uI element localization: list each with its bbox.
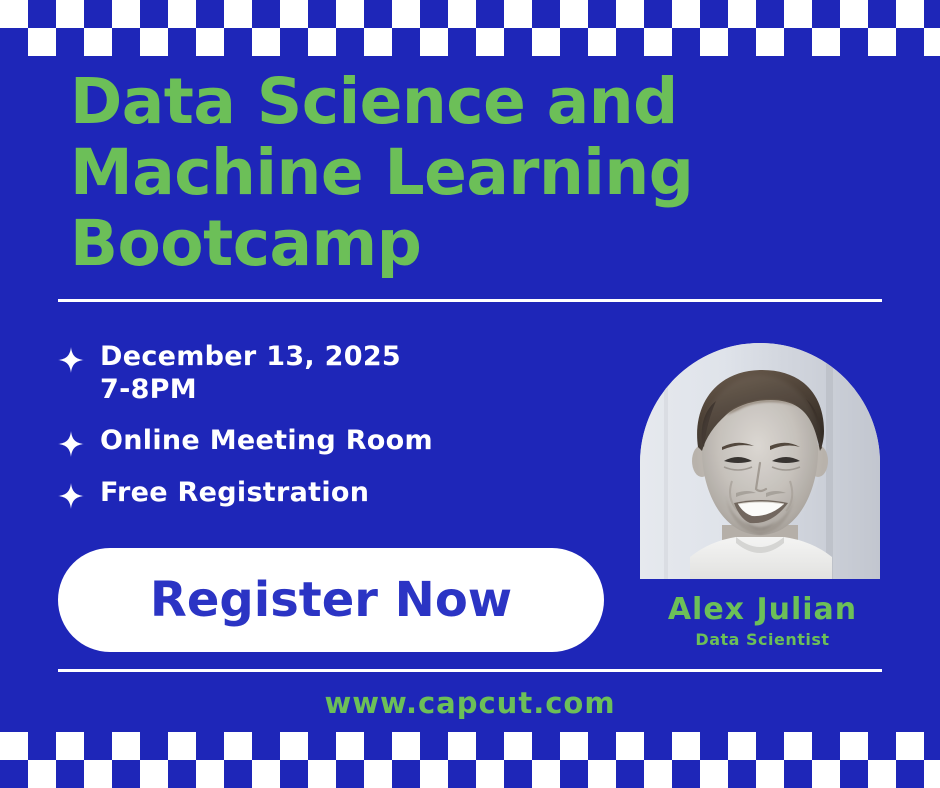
speaker-photo-frame [640, 343, 880, 579]
event-poster: Data Science and Machine Learning Bootca… [0, 0, 940, 788]
checker-square [616, 732, 644, 760]
checker-square [420, 760, 448, 788]
checker-square [168, 732, 196, 760]
sparkle-icon [58, 482, 84, 510]
checker-square [868, 28, 896, 56]
checker-square [504, 732, 532, 760]
detail-date-time: December 13, 2025 7-8PM [100, 340, 401, 406]
checker-square [224, 0, 252, 28]
checker-square [700, 760, 728, 788]
checker-square [28, 760, 56, 788]
checker-square [224, 732, 252, 760]
checker-square [812, 28, 840, 56]
detail-price: Free Registration [100, 476, 369, 509]
checker-square [392, 0, 420, 28]
checker-square [924, 760, 940, 788]
register-now-button[interactable]: Register Now [58, 548, 604, 652]
checkerboard-row [0, 732, 940, 760]
checkerboard-row [0, 28, 940, 56]
checker-square [812, 760, 840, 788]
checker-square [728, 0, 756, 28]
checker-square [392, 732, 420, 760]
checker-square [112, 732, 140, 760]
checker-square [196, 28, 224, 56]
checker-square [868, 760, 896, 788]
page-title: Data Science and Machine Learning Bootca… [70, 66, 790, 279]
list-item: Online Meeting Room [58, 424, 618, 458]
checker-square [336, 732, 364, 760]
checker-square [840, 732, 868, 760]
checkerboard-top-border [0, 0, 940, 56]
register-now-label: Register Now [150, 576, 512, 624]
checker-square [896, 732, 924, 760]
checker-square [700, 28, 728, 56]
checker-square [672, 0, 700, 28]
checkerboard-row [0, 0, 940, 28]
event-details-list: December 13, 2025 7-8PM Online Meeting R… [58, 340, 618, 528]
checker-square [280, 732, 308, 760]
checker-square [420, 28, 448, 56]
checker-square [364, 760, 392, 788]
checker-square [140, 28, 168, 56]
checker-square [784, 732, 812, 760]
title-line-3: Bootcamp [70, 208, 790, 279]
speaker-name: Alex Julian [620, 592, 905, 627]
sparkle-icon [58, 346, 84, 374]
checker-square [560, 0, 588, 28]
checker-square [616, 0, 644, 28]
divider-top [58, 299, 882, 302]
checker-square [476, 28, 504, 56]
checker-square [672, 732, 700, 760]
checkerboard-row [0, 760, 940, 788]
speaker-role: Data Scientist [620, 630, 905, 649]
checker-square [0, 732, 28, 760]
checkerboard-bottom-border [0, 732, 940, 788]
checker-square [448, 0, 476, 28]
checker-square [56, 732, 84, 760]
checker-square [560, 732, 588, 760]
checker-square [532, 28, 560, 56]
title-line-2: Machine Learning [70, 137, 790, 208]
checker-square [644, 28, 672, 56]
checker-square [840, 0, 868, 28]
checker-square [28, 28, 56, 56]
checker-square [112, 0, 140, 28]
checker-square [0, 0, 28, 28]
title-line-1: Data Science and [70, 66, 790, 137]
checker-square [532, 760, 560, 788]
checker-square [784, 0, 812, 28]
poster-content: Data Science and Machine Learning Bootca… [0, 0, 940, 788]
list-item: Free Registration [58, 476, 618, 510]
checker-square [364, 28, 392, 56]
checker-square [588, 760, 616, 788]
detail-location: Online Meeting Room [100, 424, 433, 457]
checker-square [84, 760, 112, 788]
checker-square [728, 732, 756, 760]
checker-square [448, 732, 476, 760]
checker-square [196, 760, 224, 788]
checker-square [280, 0, 308, 28]
checker-square [756, 760, 784, 788]
divider-bottom [58, 669, 882, 672]
checker-square [308, 760, 336, 788]
checker-square [252, 28, 280, 56]
checker-square [924, 28, 940, 56]
checker-square [56, 0, 84, 28]
checker-square [644, 760, 672, 788]
checker-square [336, 0, 364, 28]
checker-square [252, 760, 280, 788]
checker-square [756, 28, 784, 56]
portrait-photo [640, 343, 880, 579]
checker-square [588, 28, 616, 56]
sparkle-icon [58, 430, 84, 458]
checker-square [308, 28, 336, 56]
checker-square [896, 0, 924, 28]
checker-square [168, 0, 196, 28]
checker-square [504, 0, 532, 28]
checker-square [140, 760, 168, 788]
list-item: December 13, 2025 7-8PM [58, 340, 618, 406]
checker-square [476, 760, 504, 788]
website-url[interactable]: www.capcut.com [0, 686, 940, 720]
checker-square [84, 28, 112, 56]
